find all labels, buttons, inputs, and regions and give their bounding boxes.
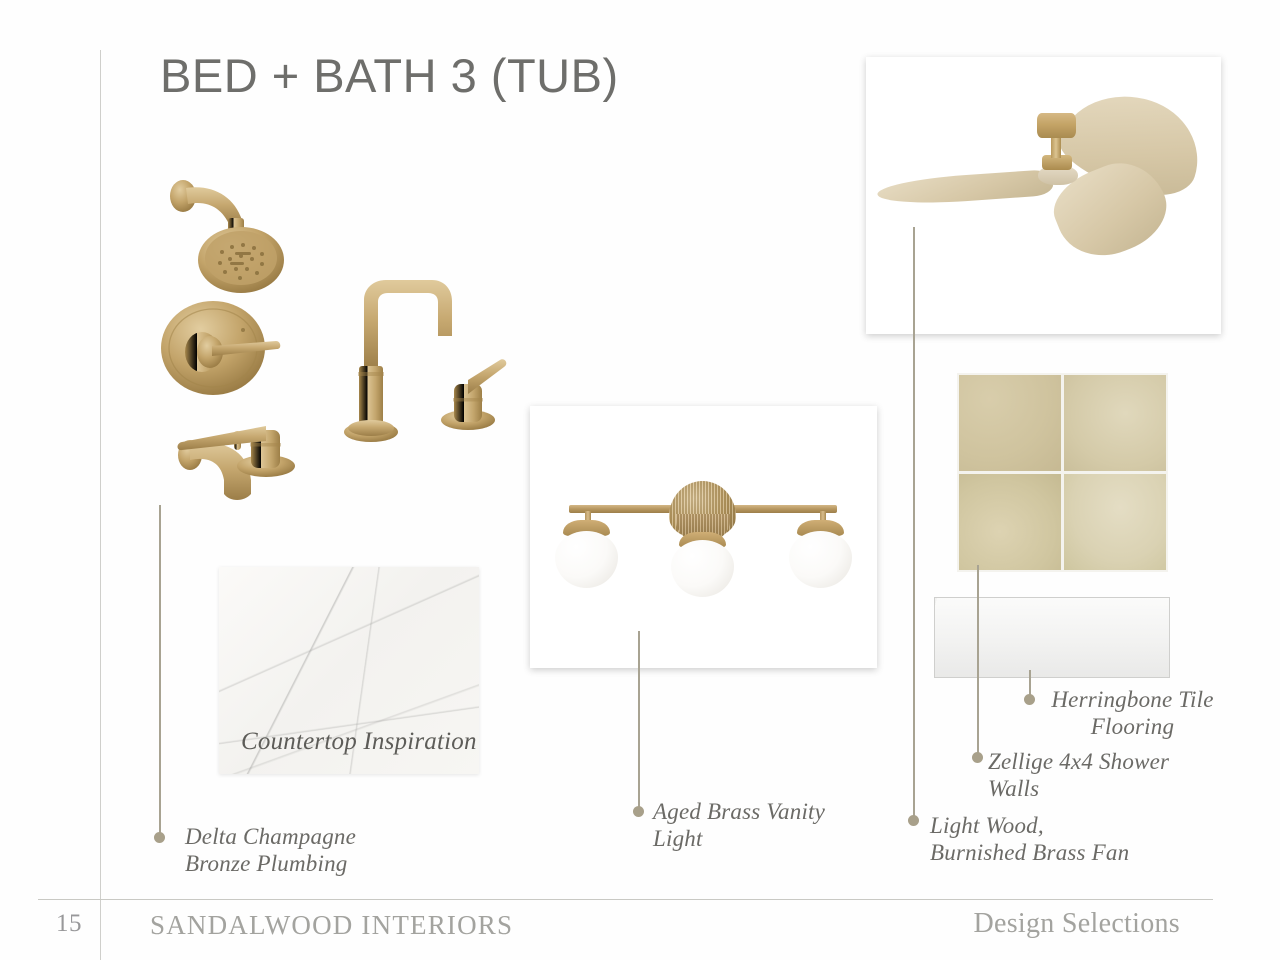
product-card-vanity-light	[530, 406, 877, 668]
zellige-tile-1	[959, 375, 1061, 471]
footer-horizontal-rule	[38, 899, 1213, 900]
swatch-zellige-tile	[957, 373, 1168, 572]
caption-fan-line1: Light Wood,	[930, 813, 1160, 840]
vanity-light-globe-left	[555, 531, 618, 588]
product-image-plumbing	[150, 160, 510, 520]
caption-vanity-light: Aged Brass Vanity Light	[653, 799, 893, 852]
zellige-tile-4	[1064, 474, 1166, 570]
page-title: BED + BATH 3 (TUB)	[160, 48, 619, 103]
connector-line-vanity	[638, 631, 640, 811]
connector-line-zellige	[977, 565, 979, 757]
ceiling-fan-illustration	[866, 57, 1221, 334]
caption-herringbone-line2: Flooring	[1040, 714, 1225, 741]
connector-line-plumbing	[159, 505, 161, 836]
caption-plumbing-line2: Bronze Plumbing	[185, 851, 425, 878]
caption-plumbing-line1: Delta Champagne	[185, 824, 425, 851]
swatch-herringbone-tile	[934, 597, 1170, 678]
fan-downrod	[1051, 136, 1061, 158]
caption-herringbone: Herringbone Tile Flooring	[1040, 687, 1225, 740]
connector-line-fan	[913, 227, 915, 820]
zellige-tile-2	[1064, 375, 1166, 471]
vanity-light-globe-right	[789, 531, 852, 588]
caption-zellige-line2: Walls	[988, 776, 1208, 803]
connector-dot-herringbone	[1024, 694, 1035, 705]
vanity-light-globe-center	[671, 540, 734, 597]
connector-dot-zellige	[972, 752, 983, 763]
zellige-tile-3	[959, 474, 1061, 570]
caption-herringbone-line1: Herringbone Tile	[1040, 687, 1225, 714]
footer-page-number: 15	[45, 910, 93, 938]
fan-canopy	[1037, 113, 1076, 138]
marble-caption-label: Countertop Inspiration	[241, 728, 477, 756]
caption-vanity-line1: Aged Brass Vanity	[653, 799, 893, 826]
connector-dot-fan	[908, 815, 919, 826]
product-card-ceiling-fan	[866, 57, 1221, 334]
caption-zellige: Zellige 4x4 Shower Walls	[988, 749, 1208, 802]
presentation-slide: BED + BATH 3 (TUB)	[0, 0, 1280, 960]
caption-fan-line2: Burnished Brass Fan	[930, 840, 1160, 867]
footer-section-name: Design Selections	[973, 908, 1180, 940]
caption-plumbing: Delta Champagne Bronze Plumbing	[185, 824, 425, 877]
vertical-divider-rule	[100, 50, 101, 960]
caption-zellige-line1: Zellige 4x4 Shower	[988, 749, 1208, 776]
caption-fan: Light Wood, Burnished Brass Fan	[930, 813, 1160, 866]
connector-dot-plumbing	[154, 832, 165, 843]
footer-brand-name: SANDALWOOD INTERIORS	[150, 910, 513, 941]
fan-blade-left	[877, 169, 1054, 207]
connector-dot-vanity	[633, 806, 644, 817]
caption-vanity-line2: Light	[653, 826, 893, 853]
